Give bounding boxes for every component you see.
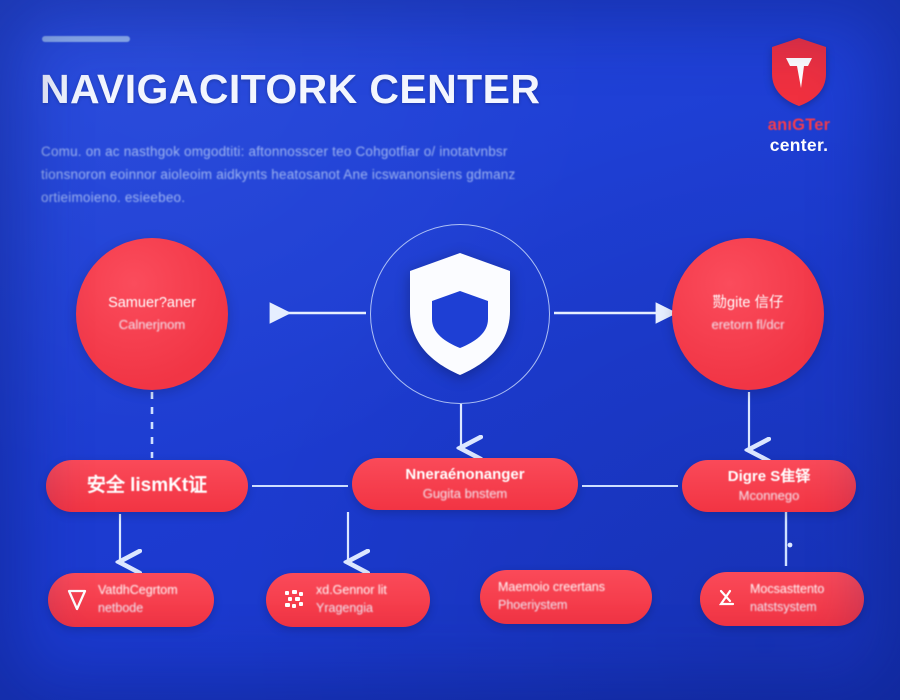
card-3-text: Mocsasttento natstsystem xyxy=(750,581,824,617)
card-2-text: Maemoio creertans Phoeriystem xyxy=(498,579,605,615)
card-monitor-system[interactable]: Mocsasttento natstsystem xyxy=(700,572,864,626)
node-right-line-2: eretorn fl/dcr xyxy=(712,315,785,335)
card-3-line-1: Mocsasttento xyxy=(750,581,824,599)
check-arrow-icon xyxy=(718,588,740,610)
pill-management-system[interactable]: Nneraénonanger Gugita bnstem xyxy=(352,458,578,510)
accent-bar xyxy=(42,36,130,42)
pill-2-line-1: Digre S隹铎 xyxy=(728,467,811,487)
pill-2-line-2: Mconnego xyxy=(739,487,800,505)
infographic-canvas: NAVIGACITORK CENTER Comu. on ac nasthgok… xyxy=(0,0,900,700)
card-0-text: VatdhCegrtom netbode xyxy=(98,582,178,618)
card-0-line-2: netbode xyxy=(98,600,178,618)
card-1-text: xd.Gennor lit Yragengia xyxy=(316,582,387,618)
link-dot xyxy=(788,543,793,548)
brand-name: anıGTer xyxy=(740,116,858,135)
card-1-line-2: Yragengia xyxy=(316,600,387,618)
shield-check-icon xyxy=(404,249,516,379)
pill-0-line-1: 安全 lismKt证 xyxy=(87,473,207,499)
page-title: NAVIGACITORK CENTER xyxy=(40,66,540,113)
central-hub xyxy=(370,224,550,404)
card-phone-system[interactable]: Maemoio creertans Phoeriystem xyxy=(480,570,652,624)
card-3-line-2: natstsystem xyxy=(750,599,824,617)
card-2-line-1: Maemoio creertans xyxy=(498,579,605,597)
pill-1-line-1: Nneraénonanger xyxy=(405,465,524,485)
node-left-line-2: Calnerjnom xyxy=(119,315,185,335)
node-left-line-1: Samuer?aner xyxy=(108,293,196,315)
pill-security-verification[interactable]: 安全 lismKt证 xyxy=(46,460,248,512)
brand-subname: center. xyxy=(740,135,858,156)
page-subtitle: Comu. on ac nasthgok omgodtiti: aftonnos… xyxy=(41,140,551,210)
node-left[interactable]: Samuer?aner Calnerjnom xyxy=(76,238,228,390)
network-dots-icon xyxy=(284,589,306,611)
card-network-agency[interactable]: xd.Gennor lit Yragengia xyxy=(266,573,430,627)
brand-logo: anıGTer center. xyxy=(740,36,858,156)
card-validation-method[interactable]: VatdhCegrtom netbode xyxy=(48,573,214,627)
card-0-line-1: VatdhCegrtom xyxy=(98,582,178,600)
node-right-line-1: 勚gite 信仔 xyxy=(713,293,784,315)
pill-1-line-2: Gugita bnstem xyxy=(423,485,508,503)
shield-outline-icon xyxy=(66,589,88,611)
pill-digital-monitoring[interactable]: Digre S隹铎 Mconnego xyxy=(682,460,856,512)
node-right[interactable]: 勚gite 信仔 eretorn fl/dcr xyxy=(672,238,824,390)
card-1-line-1: xd.Gennor lit xyxy=(316,582,387,600)
shield-icon xyxy=(768,36,830,108)
card-2-line-2: Phoeriystem xyxy=(498,597,605,615)
